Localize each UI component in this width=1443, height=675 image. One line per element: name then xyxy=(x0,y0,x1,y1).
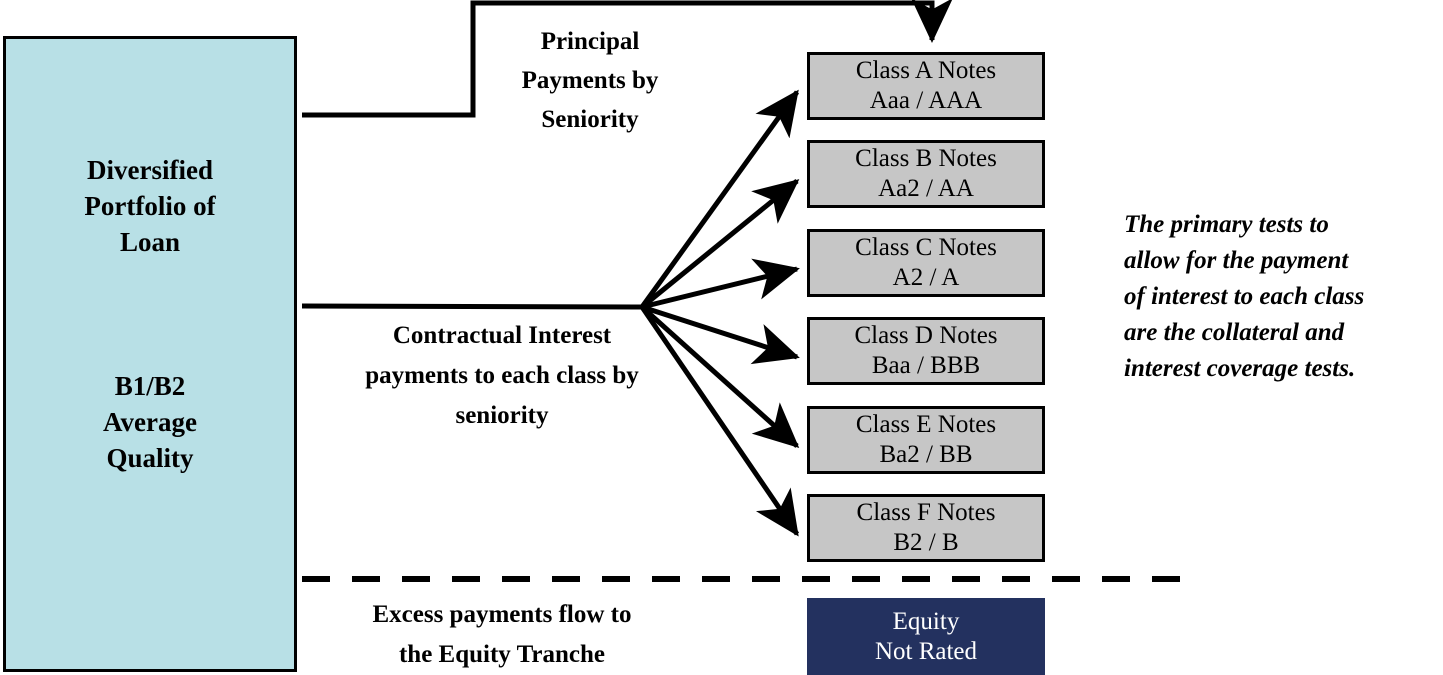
pool-quality-line2: Average xyxy=(3,404,297,440)
tranche-rating: Aaa / AAA xyxy=(870,86,982,116)
equity-rating: Not Rated xyxy=(875,637,977,667)
tranche-name: Class A Notes xyxy=(856,56,996,86)
side-note-line2: allow for the payment xyxy=(1124,243,1443,279)
tranche-name: Class B Notes xyxy=(855,144,997,174)
equity-name: Equity xyxy=(893,607,960,637)
pool-quality-line3: Quality xyxy=(3,440,297,476)
coverage-tests-note: The primary tests to allow for the payme… xyxy=(1124,207,1443,387)
interest-caption-line2: payments to each class by xyxy=(302,356,702,396)
tranche-name: Class F Notes xyxy=(857,498,996,528)
pool-title: Diversified Portfolio of Loan xyxy=(3,152,297,260)
tranche-name: Class E Notes xyxy=(856,410,996,440)
tranche-rating: Ba2 / BB xyxy=(879,440,972,470)
excess-caption-line2: the Equity Tranche xyxy=(302,635,702,675)
tranche-rating: B2 / B xyxy=(893,528,958,558)
tranche-box-class-a: Class A Notes Aaa / AAA xyxy=(807,52,1045,120)
principal-caption-line1: Principal xyxy=(468,22,712,61)
pool-title-line2: Portfolio of xyxy=(3,188,297,224)
side-note-line3: of interest to each class xyxy=(1124,279,1443,315)
interest-caption-line3: seniority xyxy=(302,396,702,436)
interest-payments-caption: Contractual Interest payments to each cl… xyxy=(302,316,702,436)
arrow-to-class-b xyxy=(642,181,797,307)
pool-quality-line1: B1/B2 xyxy=(3,368,297,404)
tranche-rating: Aa2 / AA xyxy=(878,174,974,204)
tranche-box-class-f: Class F Notes B2 / B xyxy=(807,494,1045,562)
side-note-line4: are the collateral and xyxy=(1124,315,1443,351)
tranche-box-equity: Equity Not Rated xyxy=(807,598,1045,675)
excess-payments-caption: Excess payments flow to the Equity Tranc… xyxy=(302,595,702,675)
tranche-box-class-d: Class D Notes Baa / BBB xyxy=(807,317,1045,385)
side-note-line5: interest coverage tests. xyxy=(1124,351,1443,387)
principal-payments-caption: Principal Payments by Seniority xyxy=(468,22,712,139)
pool-credit-quality: B1/B2 Average Quality xyxy=(3,368,297,476)
tranche-box-class-e: Class E Notes Ba2 / BB xyxy=(807,406,1045,474)
interest-caption-line1: Contractual Interest xyxy=(302,316,702,356)
principal-caption-line3: Seniority xyxy=(468,100,712,139)
interest-fan-arrows xyxy=(642,92,797,534)
collateral-pool-box xyxy=(3,36,297,672)
tranche-rating: A2 / A xyxy=(893,263,960,293)
arrow-to-class-c xyxy=(642,269,797,307)
pool-title-line1: Diversified xyxy=(3,152,297,188)
tranche-name: Class D Notes xyxy=(854,321,997,351)
diagram-canvas: Diversified Portfolio of Loan B1/B2 Aver… xyxy=(0,0,1443,675)
tranche-name: Class C Notes xyxy=(855,233,997,263)
tranche-box-class-c: Class C Notes A2 / A xyxy=(807,229,1045,297)
tranche-rating: Baa / BBB xyxy=(872,351,980,381)
side-note-line1: The primary tests to xyxy=(1124,207,1443,243)
interest-connector xyxy=(302,306,642,307)
principal-caption-line2: Payments by xyxy=(468,61,712,100)
tranche-box-class-b: Class B Notes Aa2 / AA xyxy=(807,140,1045,208)
excess-caption-line1: Excess payments flow to xyxy=(302,595,702,635)
pool-title-line3: Loan xyxy=(3,224,297,260)
